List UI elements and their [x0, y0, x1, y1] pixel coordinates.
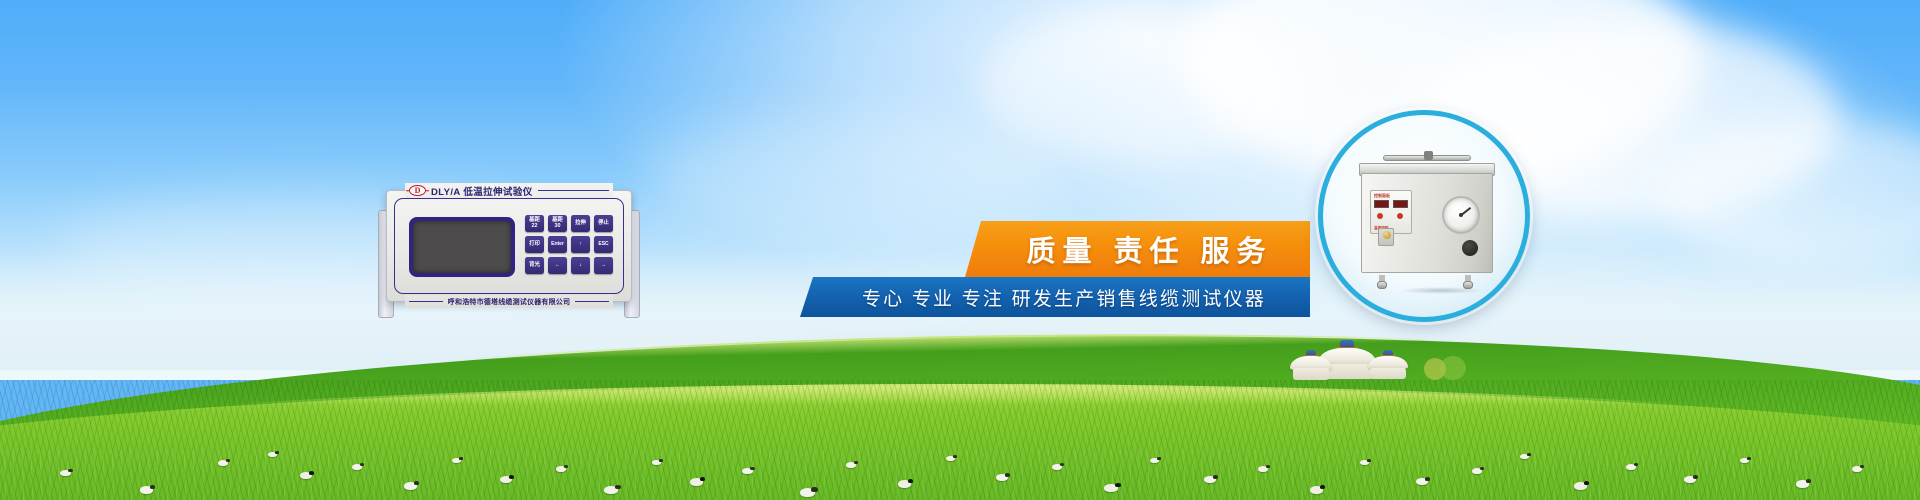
- key-base-22[interactable]: 基距 22: [525, 215, 544, 232]
- sheep: [1796, 480, 1809, 488]
- chamber-valve-knob[interactable]: [1462, 240, 1478, 256]
- key-stretch[interactable]: 拉伸: [571, 215, 590, 232]
- bush: [1440, 356, 1466, 380]
- device-footer-row: 呼和浩特市德塔线缆测试仪器有限公司: [405, 295, 613, 308]
- yurt: [1290, 356, 1332, 380]
- key-arrow-up[interactable]: ↑: [571, 236, 590, 253]
- device-model-title: DLY/A 低温拉伸试验仪: [431, 184, 533, 198]
- panel-display-a: [1374, 200, 1389, 208]
- device-keypad[interactable]: 基距 22 基距 30 拉伸 停止 打印 Enter: [525, 215, 615, 274]
- sheep: [60, 470, 71, 476]
- sheep: [604, 486, 618, 494]
- sheep: [140, 486, 153, 494]
- tensile-tester-device: D DLY/A 低温拉伸试验仪 基距 22 基距 30 拉伸: [378, 190, 640, 318]
- sheep: [652, 460, 661, 465]
- key-stop[interactable]: 停止: [594, 215, 613, 232]
- sheep: [1684, 476, 1696, 483]
- key-esc[interactable]: ESC: [594, 236, 613, 253]
- cloud-shape: [980, 10, 1310, 160]
- sheep: [1472, 468, 1482, 474]
- sheep: [1740, 458, 1749, 463]
- key-print[interactable]: 打印: [525, 236, 544, 253]
- key-backlight[interactable]: 背光: [525, 257, 544, 274]
- footer-rule-right: [575, 301, 609, 302]
- panel-knob-a[interactable]: [1377, 213, 1383, 219]
- footer-rule-left: [409, 301, 443, 302]
- sheep: [846, 462, 856, 468]
- sheep: [1258, 466, 1268, 472]
- brand-logo-letter: D: [415, 187, 421, 195]
- chamber-port: [1378, 228, 1394, 246]
- product-shadow: [1381, 286, 1501, 295]
- sheep: [1104, 484, 1118, 492]
- key-arrow-left[interactable]: ←: [548, 257, 567, 274]
- subheadline-text: 专心 专业 专注 研发生产销售线缆测试仪器: [844, 284, 1266, 311]
- hero-banner: D DLY/A 低温拉伸试验仪 基距 22 基距 30 拉伸: [0, 0, 1920, 500]
- key-base-30[interactable]: 基距 30: [548, 215, 567, 232]
- device-body: D DLY/A 低温拉伸试验仪 基距 22 基距 30 拉伸: [386, 190, 632, 302]
- sheep: [218, 460, 228, 466]
- key-arrow-right[interactable]: →: [594, 257, 613, 274]
- sheep: [300, 472, 312, 479]
- test-chamber-product: 控制面板 温度控制: [1361, 173, 1493, 277]
- panel-label-top: 控制面板: [1374, 193, 1390, 199]
- device-company-name: 呼和浩特市德塔线缆测试仪器有限公司: [448, 297, 570, 307]
- sheep: [1416, 478, 1428, 485]
- chamber-body: 控制面板 温度控制: [1361, 173, 1493, 273]
- sheep: [946, 456, 955, 461]
- sheep: [352, 464, 362, 470]
- sheep: [1626, 464, 1636, 470]
- sheep: [500, 476, 512, 483]
- sheep: [742, 468, 753, 474]
- sheep: [452, 458, 461, 463]
- sheep: [1310, 486, 1323, 494]
- sheep: [690, 478, 703, 486]
- sheep: [800, 488, 815, 497]
- sheep: [1574, 482, 1587, 490]
- sheep: [1360, 460, 1369, 465]
- sheep: [1150, 458, 1159, 463]
- key-enter[interactable]: Enter: [548, 236, 567, 253]
- title-rule: [538, 190, 609, 191]
- key-arrow-down[interactable]: ↓: [571, 257, 590, 274]
- grass-shading: [0, 470, 1920, 500]
- device-lcd-screen: [409, 217, 515, 277]
- brand-logo-icon: D: [409, 185, 426, 196]
- sheep: [404, 482, 417, 490]
- sheep: [1520, 454, 1529, 459]
- subheadline-banner: 专心 专业 专注 研发生产销售线缆测试仪器: [800, 277, 1310, 317]
- sheep: [556, 466, 566, 472]
- sheep: [898, 480, 911, 488]
- sheep: [1204, 476, 1216, 483]
- chamber-handle: [1383, 155, 1471, 161]
- headline-banner: 质量 责任 服务: [965, 221, 1310, 277]
- sheep: [268, 452, 277, 457]
- sheep: [1852, 466, 1862, 472]
- panel-display-b: [1393, 200, 1408, 208]
- product-photo-circle: 控制面板 温度控制: [1318, 110, 1530, 322]
- device-title-row: D DLY/A 低温拉伸试验仪: [405, 183, 613, 198]
- sheep: [996, 474, 1008, 481]
- panel-knob-b[interactable]: [1397, 213, 1403, 219]
- yurt: [1368, 356, 1408, 379]
- headline-text: 质量 责任 服务: [1002, 228, 1272, 270]
- grassland: [0, 300, 1920, 500]
- sheep: [1052, 464, 1062, 470]
- pressure-gauge: [1442, 196, 1480, 234]
